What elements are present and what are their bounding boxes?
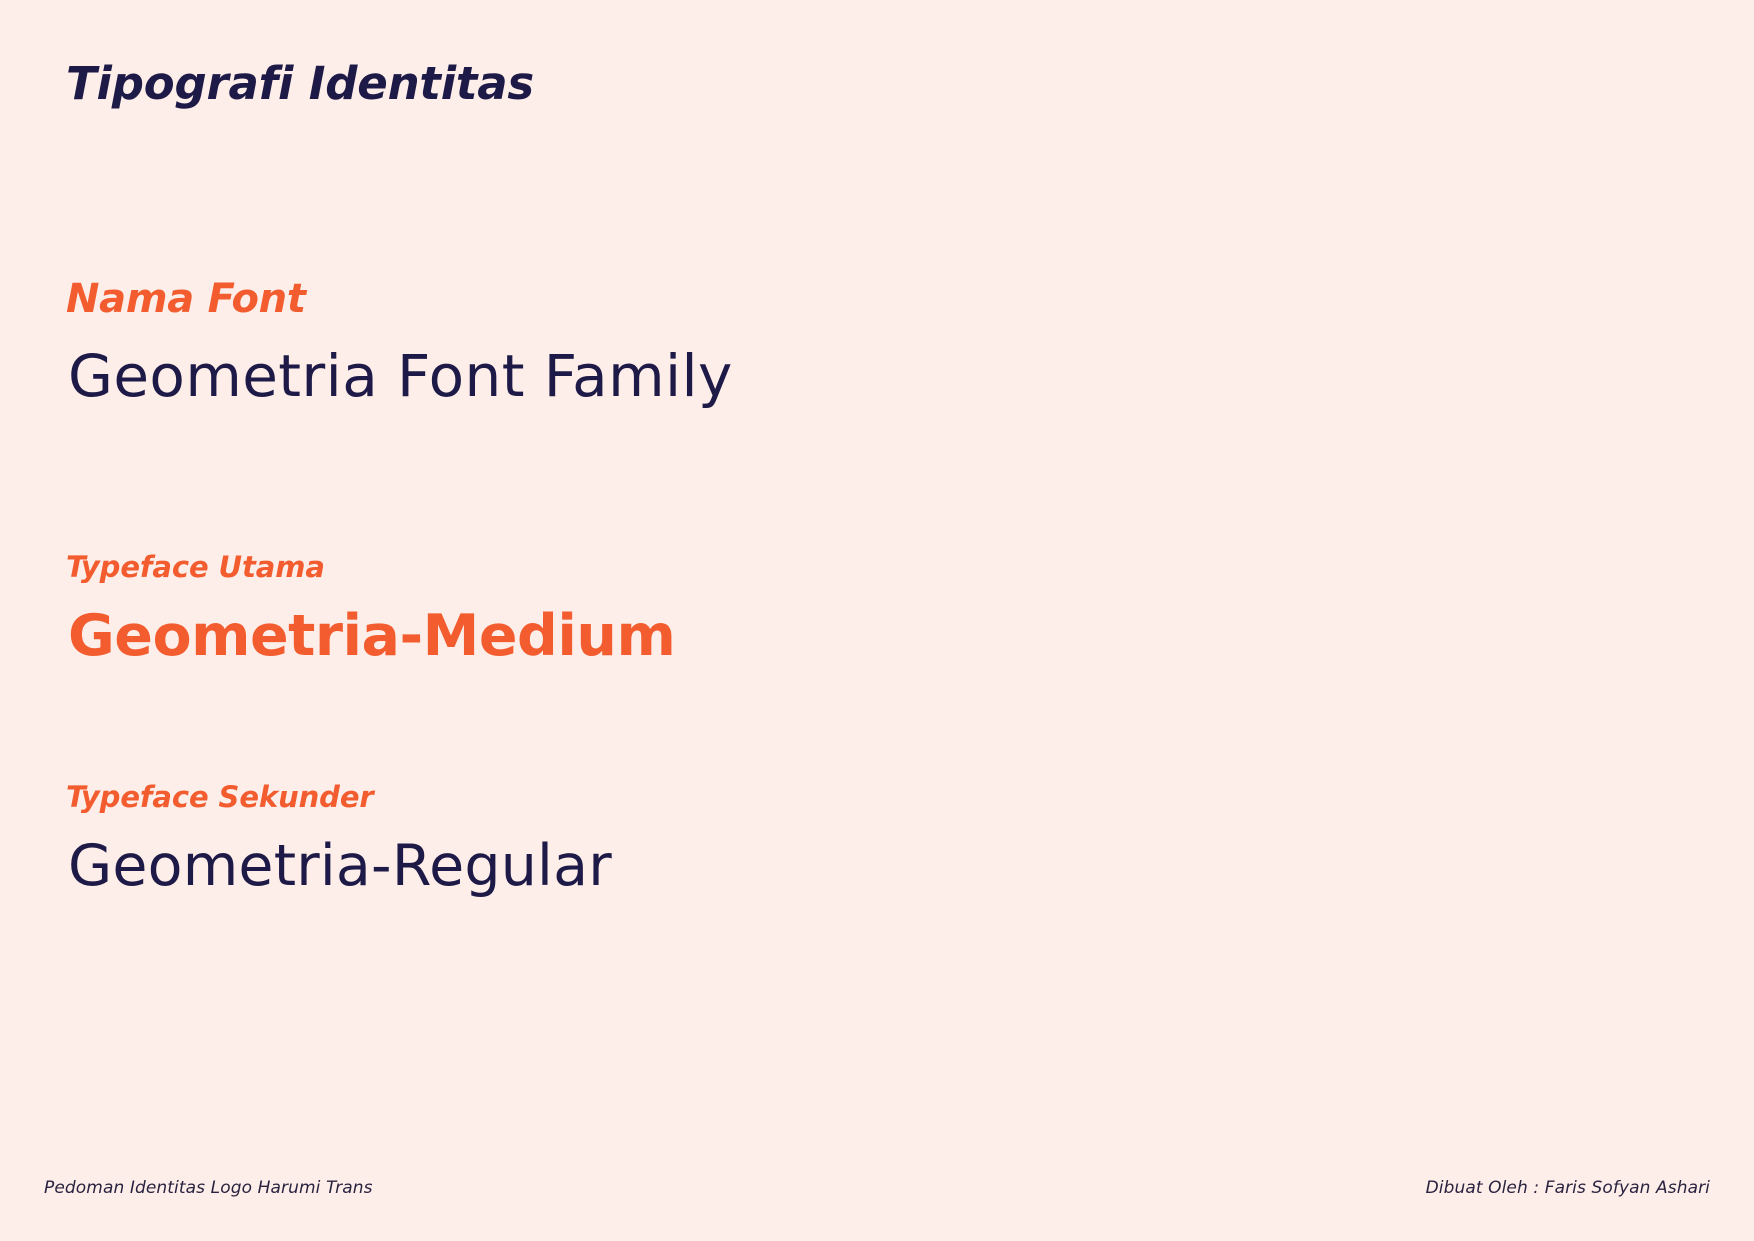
footer-author-credit: Dibuat Oleh : Faris Sofyan Ashari bbox=[1426, 1178, 1710, 1198]
footer-document-title: Pedoman Identitas Logo Harumi Trans bbox=[44, 1178, 373, 1198]
page-footer: Pedoman Identitas Logo Harumi Trans Dibu… bbox=[0, 1161, 1754, 1241]
font-sample-family: Geometria Font Family bbox=[68, 345, 733, 409]
typography-section-nama-font: Nama Font Geometria Font Family bbox=[66, 275, 733, 409]
typography-section-typeface-utama: Typeface Utama Geometria-Medium bbox=[66, 550, 675, 667]
section-label-typeface-utama: Typeface Utama bbox=[66, 550, 675, 585]
font-sample-regular: Geometria-Regular bbox=[68, 835, 612, 898]
section-label-typeface-sekunder: Typeface Sekunder bbox=[66, 780, 612, 815]
typography-guideline-page: Tipografi Identitas Nama Font Geometria … bbox=[0, 0, 1754, 1241]
section-label-nama-font: Nama Font bbox=[66, 275, 733, 323]
font-sample-medium: Geometria-Medium bbox=[68, 605, 675, 668]
page-title: Tipografi Identitas bbox=[66, 58, 534, 110]
typography-section-typeface-sekunder: Typeface Sekunder Geometria-Regular bbox=[66, 780, 612, 897]
